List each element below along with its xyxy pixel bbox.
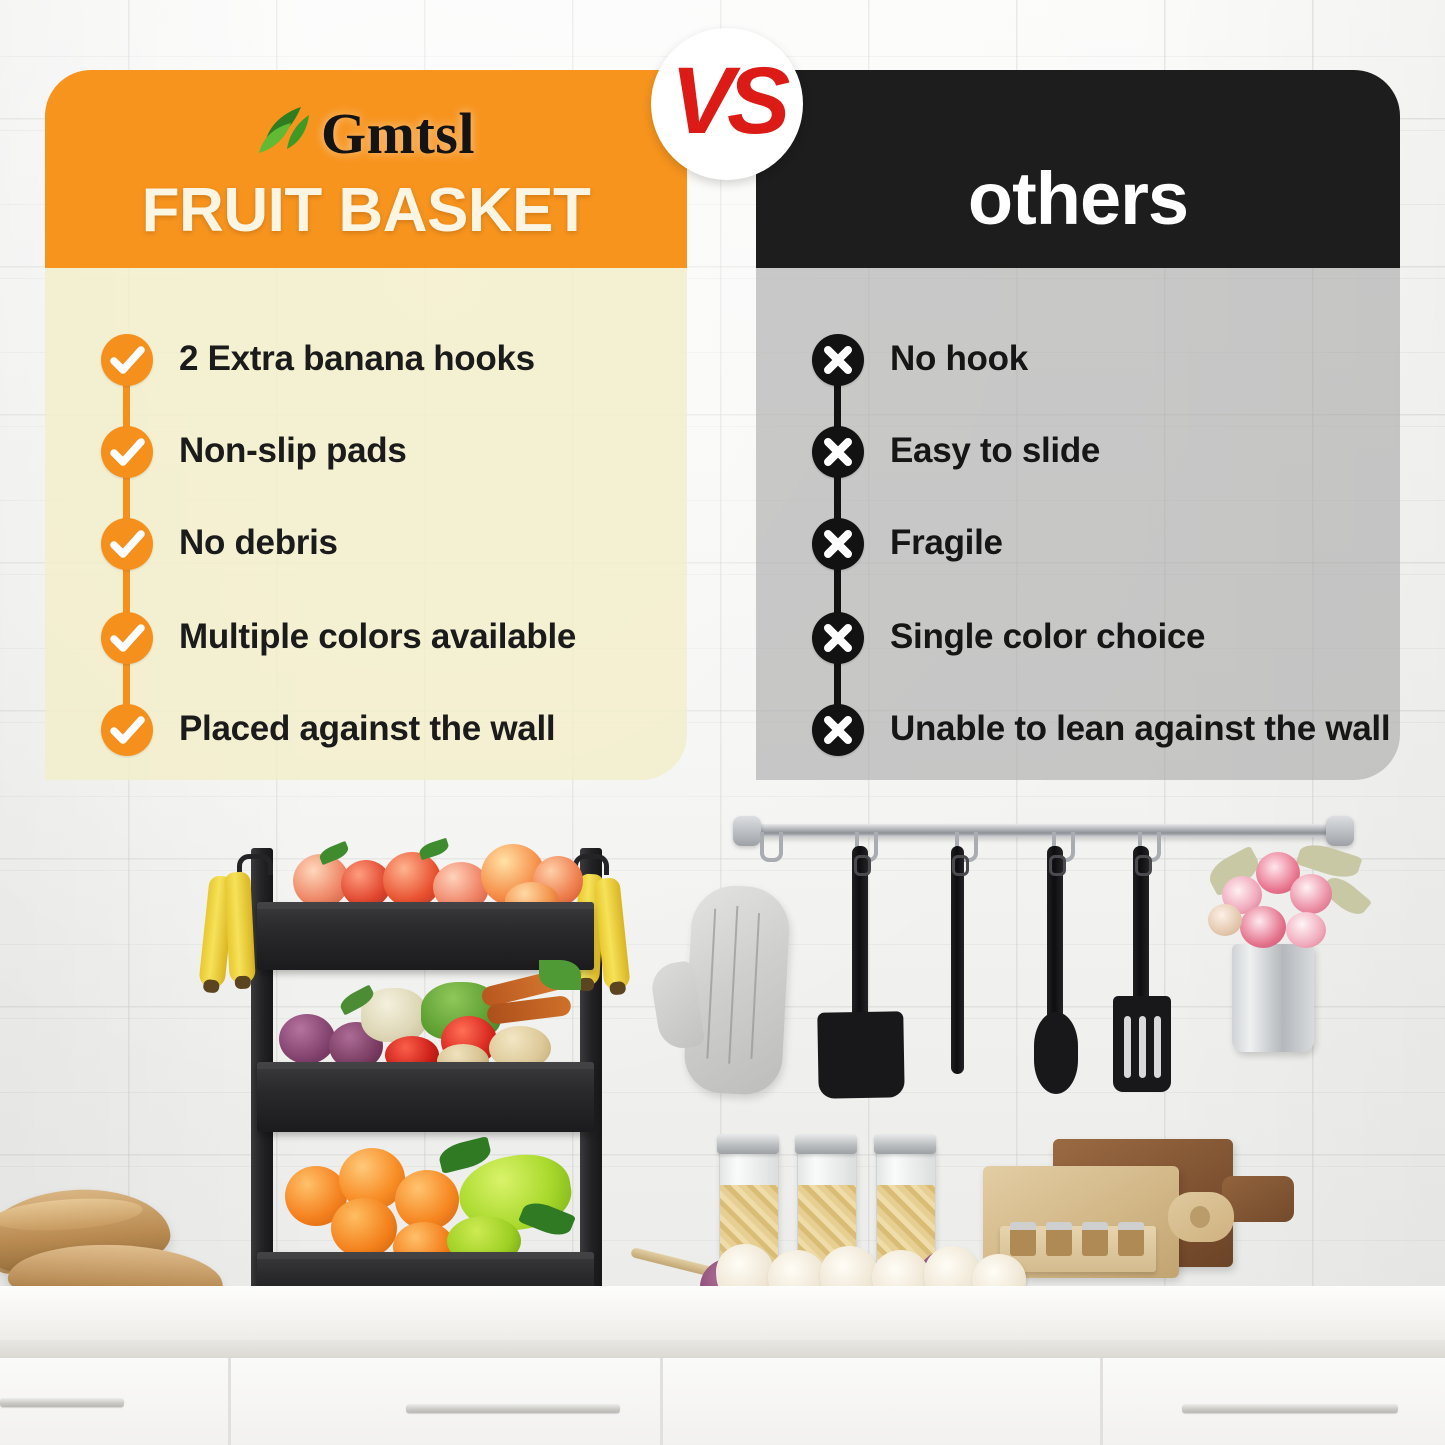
counter-edge: [0, 1340, 1445, 1358]
list-item: Multiple colors available: [101, 612, 576, 664]
feature-label: Non-slip pads: [179, 426, 407, 470]
light-board-handle: [1168, 1192, 1234, 1242]
flower-vase: [1232, 944, 1314, 1052]
brand-feature-list: 2 Extra banana hooks Non-slip pads: [45, 268, 687, 780]
list-item: No debris: [101, 518, 338, 570]
cabinet-handle[interactable]: [406, 1404, 620, 1413]
brand-panel-body: 2 Extra banana hooks Non-slip pads: [45, 268, 687, 780]
others-panel-title: others: [756, 162, 1400, 236]
leaf: [418, 838, 451, 861]
spice-jar: [1082, 1222, 1108, 1256]
list-item: No hook: [812, 334, 1028, 386]
rose: [1240, 906, 1286, 948]
feature-label: Fragile: [890, 518, 1003, 562]
vs-label: VS: [671, 54, 784, 149]
spice-jar: [1046, 1222, 1072, 1256]
feature-label: Placed against the wall: [179, 704, 555, 748]
serving-spoon-bowl: [1034, 1012, 1078, 1094]
cabinet-row: [0, 1358, 1445, 1445]
cabinet-handle[interactable]: [0, 1398, 124, 1407]
others-panel-header: others: [756, 70, 1400, 268]
list-item: 2 Extra banana hooks: [101, 334, 535, 386]
rose: [1286, 912, 1326, 948]
list-item: Easy to slide: [812, 426, 1100, 478]
list-item: Single color choice: [812, 612, 1205, 664]
carrot-greens: [539, 960, 581, 990]
turner-hang-hole: [1135, 855, 1152, 876]
cabinet-seam: [228, 1358, 231, 1445]
jar-lid: [874, 1134, 936, 1154]
list-item: Placed against the wall: [101, 704, 555, 756]
cabinet-handle[interactable]: [1182, 1404, 1398, 1413]
spice-jar: [1010, 1222, 1036, 1256]
jar-lid: [795, 1134, 857, 1154]
thin-utensil-hang-hole: [952, 855, 969, 876]
spoon-hang-hole: [1049, 855, 1066, 876]
rail-bracket-right: [1326, 816, 1354, 846]
spatula-blade: [817, 1011, 904, 1098]
spatula-hang-hole: [854, 855, 871, 876]
brand-comparison-panel: Gmtsl FRUIT BASKET 2 Extra banana hooks: [45, 70, 687, 780]
feature-label: Single color choice: [890, 612, 1205, 656]
oven-mitt: [683, 884, 792, 1097]
orange: [395, 1170, 459, 1230]
x-circle-icon: [812, 334, 864, 386]
cabinet-seam: [1100, 1358, 1103, 1445]
brand-panel-header: Gmtsl FRUIT BASKET: [45, 70, 687, 268]
feature-label: No hook: [890, 334, 1028, 378]
spice-jar: [1118, 1222, 1144, 1256]
red-onion: [279, 1014, 335, 1064]
x-circle-icon: [812, 426, 864, 478]
check-circle-icon: [101, 612, 153, 664]
turner-slot: [1124, 1016, 1131, 1078]
check-circle-icon: [101, 334, 153, 386]
rose: [1290, 874, 1332, 914]
thin-utensil: [951, 846, 964, 1074]
list-item: Non-slip pads: [101, 426, 407, 478]
utensil-rail: [742, 824, 1340, 837]
others-comparison-panel: others No hook: [756, 70, 1400, 780]
cabinet-seam: [660, 1358, 663, 1445]
list-item: Fragile: [812, 518, 1003, 570]
apple: [383, 852, 441, 908]
jar-lid: [717, 1134, 779, 1154]
rail-hook: [760, 832, 783, 862]
brand-name: Gmtsl: [321, 105, 475, 163]
leaf-icon: [257, 103, 319, 165]
x-circle-icon: [812, 518, 864, 570]
rail-bracket-left: [733, 816, 761, 846]
feature-label: No debris: [179, 518, 338, 562]
countertop: [0, 1286, 1445, 1348]
others-panel-body: No hook Easy to slide: [756, 268, 1400, 780]
feature-label: 2 Extra banana hooks: [179, 334, 535, 378]
rack-tier-middle: [257, 1062, 594, 1132]
others-feature-list: No hook Easy to slide: [756, 268, 1400, 780]
turner-slot: [1154, 1016, 1161, 1078]
orange: [331, 1198, 397, 1258]
fruit-basket-rack: [243, 840, 608, 1310]
feature-label: Easy to slide: [890, 426, 1100, 470]
infographic-canvas: Gmtsl FRUIT BASKET 2 Extra banana hooks: [0, 0, 1445, 1445]
brand-panel-title: FRUIT BASKET: [45, 180, 687, 242]
list-item: Unable to lean against the wall: [812, 704, 1390, 756]
check-circle-icon: [101, 518, 153, 570]
x-circle-icon: [812, 704, 864, 756]
turner-slot: [1139, 1016, 1146, 1078]
dried-bloom: [1208, 904, 1242, 936]
feature-label: Unable to lean against the wall: [890, 704, 1390, 748]
check-circle-icon: [101, 704, 153, 756]
check-circle-icon: [101, 426, 153, 478]
feature-label: Multiple colors available: [179, 612, 576, 656]
vs-badge: VS: [651, 28, 803, 180]
brand-logo: Gmtsl: [45, 96, 687, 172]
x-circle-icon: [812, 612, 864, 664]
